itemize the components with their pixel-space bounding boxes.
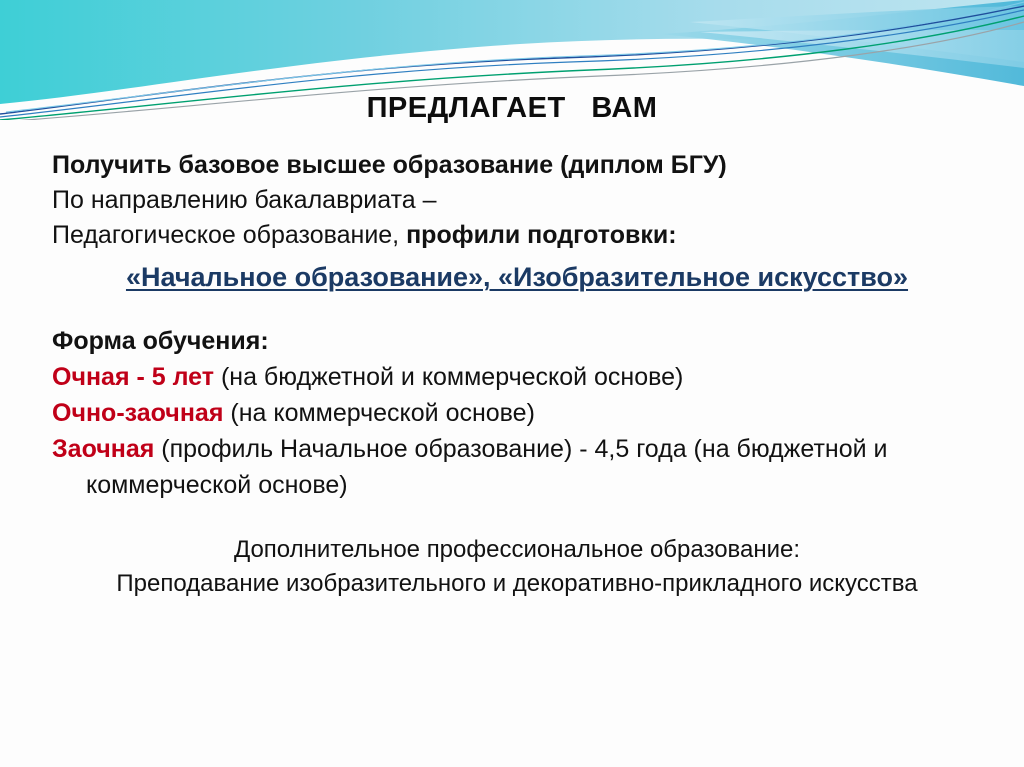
- study-form-item: Заочная (профиль Начальное образование) …: [52, 431, 982, 503]
- intro-line-3-bold: профили подготовки:: [406, 221, 676, 249]
- study-form-hang: Заочная (профиль Начальное образование) …: [52, 431, 982, 503]
- intro-line-2: По направлению бакалавриата –: [52, 183, 982, 218]
- intro-line-1: Получить базовое высшее образование (дип…: [52, 148, 982, 183]
- slide-body: Получить базовое высшее образование (дип…: [52, 148, 982, 601]
- additional-education-line-2: Преподавание изобразительного и декорати…: [112, 567, 922, 601]
- intro-line-3-regular: Педагогическое образование,: [52, 221, 406, 249]
- study-form-item: Очно-заочная (на коммерческой основе): [52, 395, 982, 431]
- study-forms-block: Форма обучения: Очная - 5 лет (на бюджет…: [52, 323, 982, 503]
- study-form-emphasis: Заочная: [52, 435, 154, 463]
- study-forms-heading: Форма обучения:: [52, 323, 982, 359]
- additional-education-line-1: Дополнительное профессиональное образова…: [112, 533, 922, 567]
- study-form-hang: Очная - 5 лет (на бюджетной и коммерческ…: [52, 359, 982, 395]
- study-form-emphasis: Очная - 5 лет: [52, 363, 214, 391]
- additional-education-block: Дополнительное профессиональное образова…: [52, 533, 982, 601]
- intro-line-3: Педагогическое образование, профили подг…: [52, 218, 982, 253]
- study-form-detail: (на коммерческой основе): [223, 399, 535, 427]
- study-form-detail: (профиль Начальное образование) - 4,5 го…: [86, 435, 894, 499]
- study-form-item: Очная - 5 лет (на бюджетной и коммерческ…: [52, 359, 982, 395]
- presentation-slide: ПРЕДЛАГАЕТ ВАМ Получить базовое высшее о…: [0, 0, 1024, 767]
- study-form-detail: (на бюджетной и коммерческой основе): [214, 363, 683, 391]
- study-form-hang: Очно-заочная (на коммерческой основе): [52, 395, 982, 431]
- page-title: ПРЕДЛАГАЕТ ВАМ: [0, 92, 1024, 125]
- profiles-heading: «Начальное образование», «Изобразительно…: [52, 257, 982, 297]
- study-form-emphasis: Очно-заочная: [52, 399, 223, 427]
